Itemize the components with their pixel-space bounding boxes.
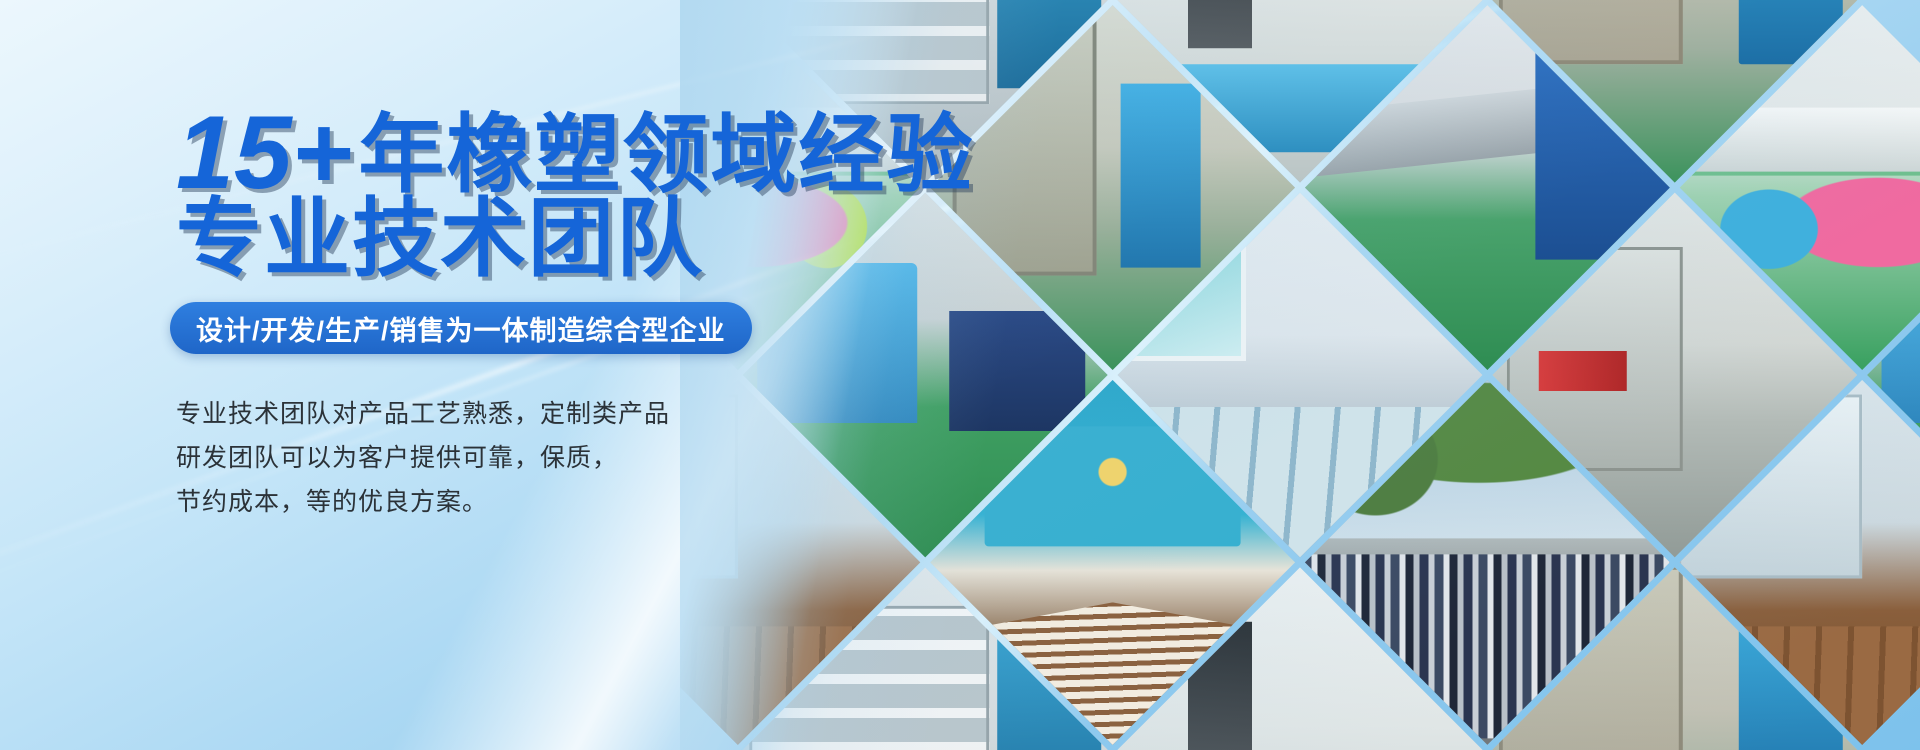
description-line: 节约成本，等的优良方案。 (176, 480, 736, 524)
status-badge: 设计/开发/生产/销售为一体制造综合型企业 (170, 302, 752, 354)
description-line: 专业技术团队对产品工艺熟悉，定制类产品 (176, 392, 736, 436)
description-paragraph: 专业技术团队对产品工艺熟悉，定制类产品研发团队可以为客户提供可靠，保质，节约成本… (176, 392, 736, 524)
promo-banner: 15+年橡塑领域经验 专业技术团队 设计/开发/生产/销售为一体制造综合型企业 … (0, 0, 1920, 750)
headline-line-2: 专业技术团队 (176, 196, 704, 284)
description-line: 研发团队可以为客户提供可靠，保质， (176, 436, 736, 480)
headline-line-1-text: 年橡塑领域经验 (358, 107, 974, 203)
banner-content: 15+年橡塑领域经验 专业技术团队 设计/开发/生产/销售为一体制造综合型企业 … (0, 0, 900, 750)
